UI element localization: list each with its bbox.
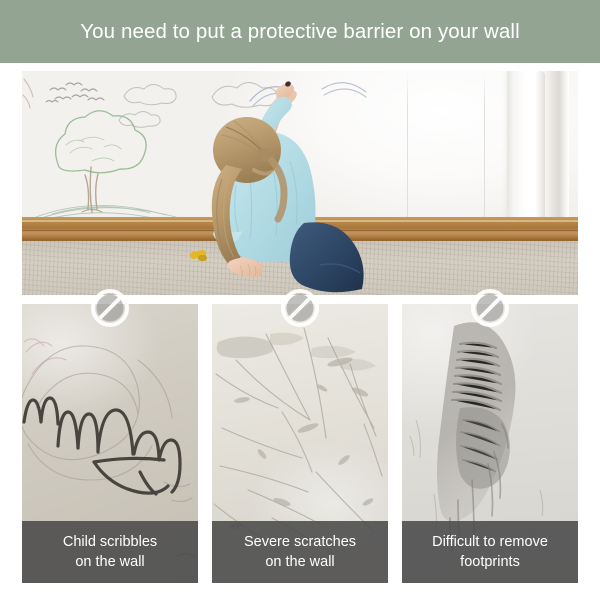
caption-bar: Child scribbles on the wall bbox=[22, 521, 198, 583]
caption-line-2: on the wall bbox=[265, 553, 334, 572]
caption-bar: Difficult to remove footprints bbox=[402, 521, 578, 583]
header-banner: You need to put a protective barrier on … bbox=[0, 0, 600, 63]
caption-line-2: on the wall bbox=[75, 553, 144, 572]
child-scribbles-panel: Child scribbles on the wall bbox=[22, 304, 198, 583]
promotional-image: You need to put a protective barrier on … bbox=[0, 0, 600, 600]
page-title: You need to put a protective barrier on … bbox=[80, 20, 519, 44]
footprints-panel: Difficult to remove footprints bbox=[402, 304, 578, 583]
caption-line-1: Severe scratches bbox=[244, 533, 356, 552]
caption-bar: Severe scratches on the wall bbox=[212, 521, 388, 583]
caption-line-1: Child scribbles bbox=[63, 533, 157, 552]
caption-line-1: Difficult to remove bbox=[432, 533, 548, 552]
hero-photo bbox=[22, 71, 578, 295]
caption-line-2: footprints bbox=[460, 553, 520, 572]
severe-scratches-panel: Severe scratches on the wall bbox=[212, 304, 388, 583]
child-figure bbox=[192, 75, 382, 295]
